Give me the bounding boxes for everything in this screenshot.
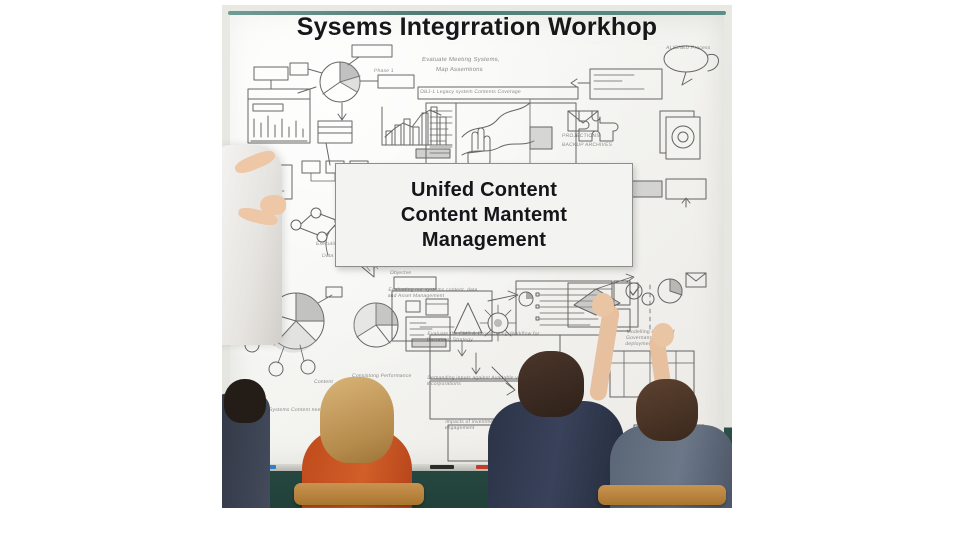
sketch-label-objective-body: Evaluating our systems content, data and… — [387, 287, 480, 299]
sketch-label-phase: Phase 1 — [374, 68, 394, 74]
callout-line-1: Unifed Content — [411, 178, 557, 203]
presenter-white-shirt — [222, 145, 282, 345]
sketch-label-cloud: ALIGNED Process — [666, 45, 711, 51]
sketch-label-banner: OBJ-1 Legacy system Contents Coverage — [420, 89, 521, 95]
attendee-left-head — [224, 379, 266, 423]
sketch-label-content-tag: Content — [314, 379, 334, 385]
sketch-label-objective: Objectve — [390, 270, 412, 276]
marker-black — [430, 465, 454, 469]
raised-arm-hand — [592, 293, 614, 317]
right-arm-hand — [652, 323, 674, 347]
page-canvas: Evaluate Meeting Systems, Map Assemtions… — [0, 0, 960, 540]
chair-blonde — [294, 483, 424, 505]
central-callout-box: Unifed Content Content Mantemt Managemen… — [335, 163, 633, 267]
sketch-label-projections: PROJECTIONS — [562, 133, 600, 139]
attendee-blonde-hair — [320, 377, 394, 463]
callout-line-3: Management — [422, 228, 546, 253]
callout-line-2: Content Mantemt — [401, 203, 567, 228]
chair-grey — [598, 485, 726, 505]
sketch-label-top-center-2: Map Assemtions — [436, 67, 483, 73]
attendee-navy-head — [518, 351, 584, 417]
sketch-label-cms-body: Evaluate the CMS & Crosscutting Workflow… — [426, 331, 547, 343]
workshop-photo: Evaluate Meeting Systems, Map Assemtions… — [222, 5, 732, 508]
sketch-label-top-center-1: Evaluate Meeting Systems, — [422, 57, 500, 63]
whiteboard-headline: Sysems Integrration Workhop — [222, 13, 732, 42]
attendee-grey-head — [636, 379, 698, 441]
sketch-label-backup: BACKUP ARCHIVES — [562, 142, 613, 148]
